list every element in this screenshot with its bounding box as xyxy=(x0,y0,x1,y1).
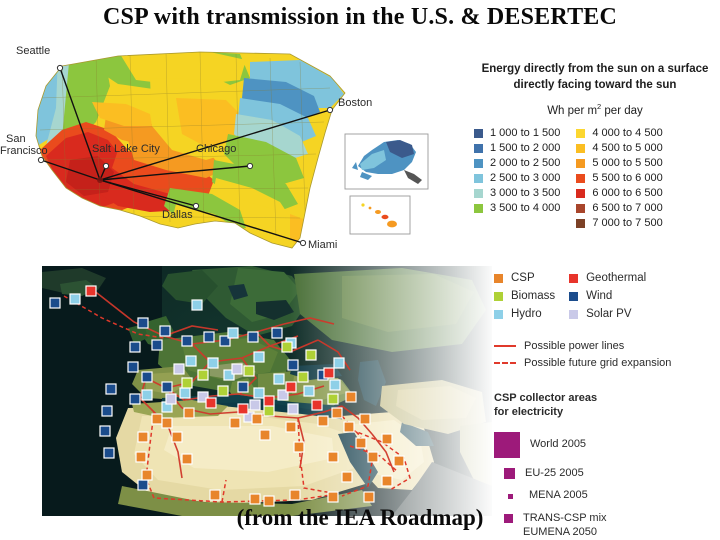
csp-area-label: MENA 2005 xyxy=(529,489,588,503)
csp-area-label: World 2005 xyxy=(530,438,586,452)
csp-area-swatch xyxy=(494,432,520,458)
legend-swatch xyxy=(474,144,483,153)
legend-swatch xyxy=(474,204,483,213)
legend-swatch xyxy=(474,159,483,168)
csp-area-world-2005: World 2005 xyxy=(494,432,720,458)
hydro-swatch xyxy=(494,310,503,319)
legend-range-label: 7 000 to 7 500 xyxy=(592,217,662,229)
alaska-inset xyxy=(345,134,428,189)
city-label-dallas: Dallas xyxy=(162,209,193,221)
legend-swatch xyxy=(576,144,585,153)
legend-item-hydro: Hydro xyxy=(494,308,555,320)
legend-range-label: 1 500 to 2 000 xyxy=(490,142,560,154)
csp-area-swatch xyxy=(504,468,515,479)
legend-item: 1 500 to 2 000 xyxy=(474,142,560,155)
legend-item: 5 500 to 6 000 xyxy=(576,172,662,185)
legend-item: 4 500 to 5 000 xyxy=(576,142,662,155)
legend-swatch xyxy=(474,129,483,138)
desertec-tech-column-left: CSP Biomass Hydro xyxy=(494,272,555,320)
legend-range-label: 3 000 to 3 500 xyxy=(490,187,560,199)
wind-label: Wind xyxy=(586,290,612,302)
legend-range-label: 6 500 to 7 000 xyxy=(592,202,662,214)
solar-pv-swatch xyxy=(569,310,578,319)
hawaii-inset xyxy=(350,196,410,234)
legend-item-wind: Wind xyxy=(569,290,646,302)
legend-swatch xyxy=(576,129,585,138)
legend-range-label: 5 500 to 6 000 xyxy=(592,172,662,184)
city-label-boston: Boston xyxy=(338,97,372,109)
legend-range-label: 4 000 to 4 500 xyxy=(592,127,662,139)
legend-swatch-columns: 1 000 to 1 500 1 500 to 2 000 2 000 to 2… xyxy=(470,127,720,230)
dashed-line-icon xyxy=(494,362,516,364)
csp-area-swatch xyxy=(508,494,513,499)
legend-range-label: 5 000 to 5 500 xyxy=(592,157,662,169)
legend-swatch xyxy=(474,174,483,183)
legend-item: 4 000 to 4 500 xyxy=(576,127,662,140)
wind-swatch xyxy=(569,292,578,301)
future-grid-label: Possible future grid expansion xyxy=(524,357,671,369)
legend-swatch xyxy=(576,189,585,198)
hydro-label: Hydro xyxy=(511,308,542,320)
desertec-map xyxy=(42,266,492,516)
legend-column-left: 1 000 to 1 500 1 500 to 2 000 2 000 to 2… xyxy=(474,127,560,230)
source-caption: (from the IEA Roadmap) xyxy=(0,505,720,531)
biomass-label: Biomass xyxy=(511,290,555,302)
solar-pv-label: Solar PV xyxy=(586,308,631,320)
csp-label: CSP xyxy=(511,272,535,284)
legend-column-right: 4 000 to 4 500 4 500 to 5 000 5 000 to 5… xyxy=(576,127,662,230)
legend-swatch xyxy=(576,159,585,168)
legend-range-label: 3 500 to 4 000 xyxy=(490,202,560,214)
desertec-legend: CSP Biomass Hydro Geothermal W xyxy=(494,272,720,540)
legend-item: 5 000 to 5 500 xyxy=(576,157,662,170)
legend-item: 2 000 to 2 500 xyxy=(474,157,560,170)
legend-item-power-lines: Possible power lines xyxy=(494,340,720,352)
csp-swatch xyxy=(494,274,503,283)
legend-header: Energy directly from the sun on a surfac… xyxy=(470,62,720,93)
csp-areas-title-line2: for electricity xyxy=(494,405,720,419)
city-label-salt-lake-city: Salt Lake City xyxy=(92,143,160,155)
legend-item: 1 000 to 1 500 xyxy=(474,127,560,140)
legend-swatch xyxy=(576,219,585,228)
desertec-tech-column-right: Geothermal Wind Solar PV xyxy=(569,272,646,320)
csp-area-eu25-2005: EU-25 2005 xyxy=(494,467,720,481)
legend-item: 3 500 to 4 000 xyxy=(474,202,560,215)
legend-units: Wh per m2 per day xyxy=(470,102,720,117)
desertec-line-legend: Possible power lines Possible future gri… xyxy=(494,340,720,369)
csp-area-label: EU-25 2005 xyxy=(525,467,584,481)
transmission-hub xyxy=(97,177,103,183)
legend-item-csp: CSP xyxy=(494,272,555,284)
geothermal-label: Geothermal xyxy=(586,272,646,284)
city-label-chicago: Chicago xyxy=(196,143,236,155)
csp-areas-title-line1: CSP collector areas xyxy=(494,391,720,405)
legend-item: 6 000 to 6 500 xyxy=(576,187,662,200)
legend-range-label: 4 500 to 5 000 xyxy=(592,142,662,154)
legend-range-label: 2 500 to 3 000 xyxy=(490,172,560,184)
legend-item: 7 000 to 7 500 xyxy=(576,217,662,230)
legend-item-geothermal: Geothermal xyxy=(569,272,646,284)
legend-range-label: 1 000 to 1 500 xyxy=(490,127,560,139)
power-lines-label: Possible power lines xyxy=(524,340,624,352)
legend-item: 2 500 to 3 000 xyxy=(474,172,560,185)
slide-root: CSP with transmission in the U.S. & DESE… xyxy=(0,0,720,540)
legend-header-line1: Energy directly from the sun on a surfac… xyxy=(470,62,720,78)
biomass-swatch xyxy=(494,292,503,301)
legend-header-line2: directly facing toward the sun xyxy=(470,78,720,94)
legend-swatch xyxy=(576,174,585,183)
us-solar-resource-map: Seattle San Francisco Salt Lake City Chi… xyxy=(0,38,470,253)
us-map-legend: Energy directly from the sun on a surfac… xyxy=(470,62,720,230)
city-label-san: San xyxy=(6,133,26,145)
legend-item: 3 000 to 3 500 xyxy=(474,187,560,200)
page-title: CSP with transmission in the U.S. & DESE… xyxy=(0,4,720,31)
solid-line-icon xyxy=(494,345,516,347)
csp-area-mena-2005: MENA 2005 xyxy=(494,489,720,503)
legend-swatch xyxy=(474,189,483,198)
csp-areas-title: CSP collector areas for electricity xyxy=(494,391,720,420)
city-label-francisco: Francisco xyxy=(0,145,48,157)
legend-item: 6 500 to 7 000 xyxy=(576,202,662,215)
legend-item-solar-pv: Solar PV xyxy=(569,308,646,320)
legend-units-suffix: per day xyxy=(601,105,643,117)
geothermal-swatch xyxy=(569,274,578,283)
city-label-miami: Miami xyxy=(308,239,337,251)
legend-item-biomass: Biomass xyxy=(494,290,555,302)
legend-range-label: 6 000 to 6 500 xyxy=(592,187,662,199)
legend-swatch xyxy=(576,204,585,213)
desertec-tech-legend: CSP Biomass Hydro Geothermal W xyxy=(494,272,720,320)
legend-range-label: 2 000 to 2 500 xyxy=(490,157,560,169)
city-label-seattle: Seattle xyxy=(16,45,50,57)
legend-units-prefix: Wh per m xyxy=(547,105,597,117)
legend-item-future-grid: Possible future grid expansion xyxy=(494,357,720,369)
